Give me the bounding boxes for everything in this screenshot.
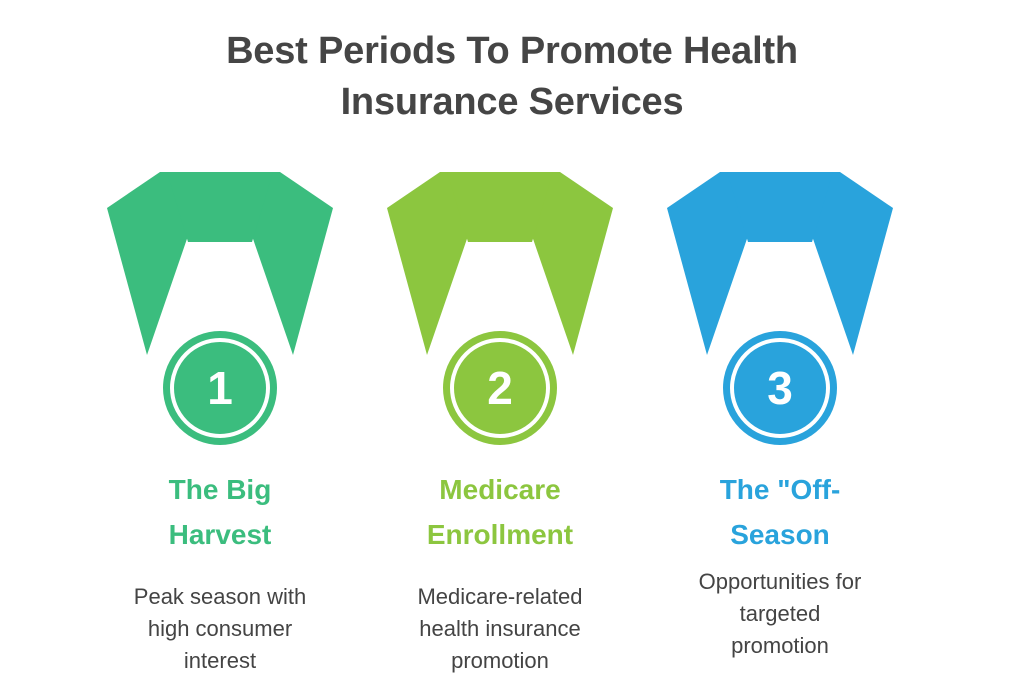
medal-heading-2-line-2: Enrollment xyxy=(427,519,573,550)
medal-description-1-line-3: interest xyxy=(184,648,256,673)
medal-icon-2: 2 xyxy=(374,160,626,445)
medal-column-1: 1 The Big Harvest Peak season with high … xyxy=(80,160,360,699)
medal-heading-1: The Big Harvest xyxy=(95,467,345,557)
medal-heading-3: The "Off- Season xyxy=(655,467,905,557)
medal-description-3-line-3: promotion xyxy=(731,633,829,658)
infographic-root: Best Periods To Promote Health Insurance… xyxy=(0,0,1024,699)
medal-heading-1-line-2: Harvest xyxy=(169,519,272,550)
medal-description-3: Opportunities for targeted promotion xyxy=(656,566,904,662)
medal-column-3: 3 The "Off- Season Opportunities for tar… xyxy=(640,160,920,699)
page-title-line-2: Insurance Services xyxy=(0,77,1024,128)
medal-description-3-line-2: targeted xyxy=(740,601,821,626)
medal-icon-1: 1 xyxy=(94,160,346,445)
medal-description-2-line-1: Medicare-related xyxy=(417,584,582,609)
medal-description-3-line-1: Opportunities for xyxy=(699,569,862,594)
medal-column-2: 2 Medicare Enrollment Medicare-related h… xyxy=(360,160,640,699)
medal-rank-number-3: 3 xyxy=(767,362,793,414)
medal-heading-3-line-1: The "Off- xyxy=(720,474,841,505)
page-title: Best Periods To Promote Health Insurance… xyxy=(0,26,1024,128)
medal-rank-number-1: 1 xyxy=(207,362,233,414)
medal-description-2-line-3: promotion xyxy=(451,648,549,673)
medal-description-1-line-1: Peak season with xyxy=(134,584,306,609)
page-title-line-1: Best Periods To Promote Health xyxy=(0,26,1024,77)
medal-heading-1-line-1: The Big xyxy=(169,474,272,505)
medal-description-2: Medicare-related health insurance promot… xyxy=(376,581,624,677)
medal-description-1: Peak season with high consumer interest xyxy=(96,581,344,677)
medal-columns: 1 The Big Harvest Peak season with high … xyxy=(0,160,1024,699)
medal-icon-3: 3 xyxy=(654,160,906,445)
medal-heading-2-line-1: Medicare xyxy=(439,474,560,505)
medal-heading-2: Medicare Enrollment xyxy=(375,467,625,557)
medal-description-1-line-2: high consumer xyxy=(148,616,292,641)
medal-rank-number-2: 2 xyxy=(487,362,513,414)
medal-heading-3-line-2: Season xyxy=(730,519,830,550)
medal-description-2-line-2: health insurance xyxy=(419,616,580,641)
